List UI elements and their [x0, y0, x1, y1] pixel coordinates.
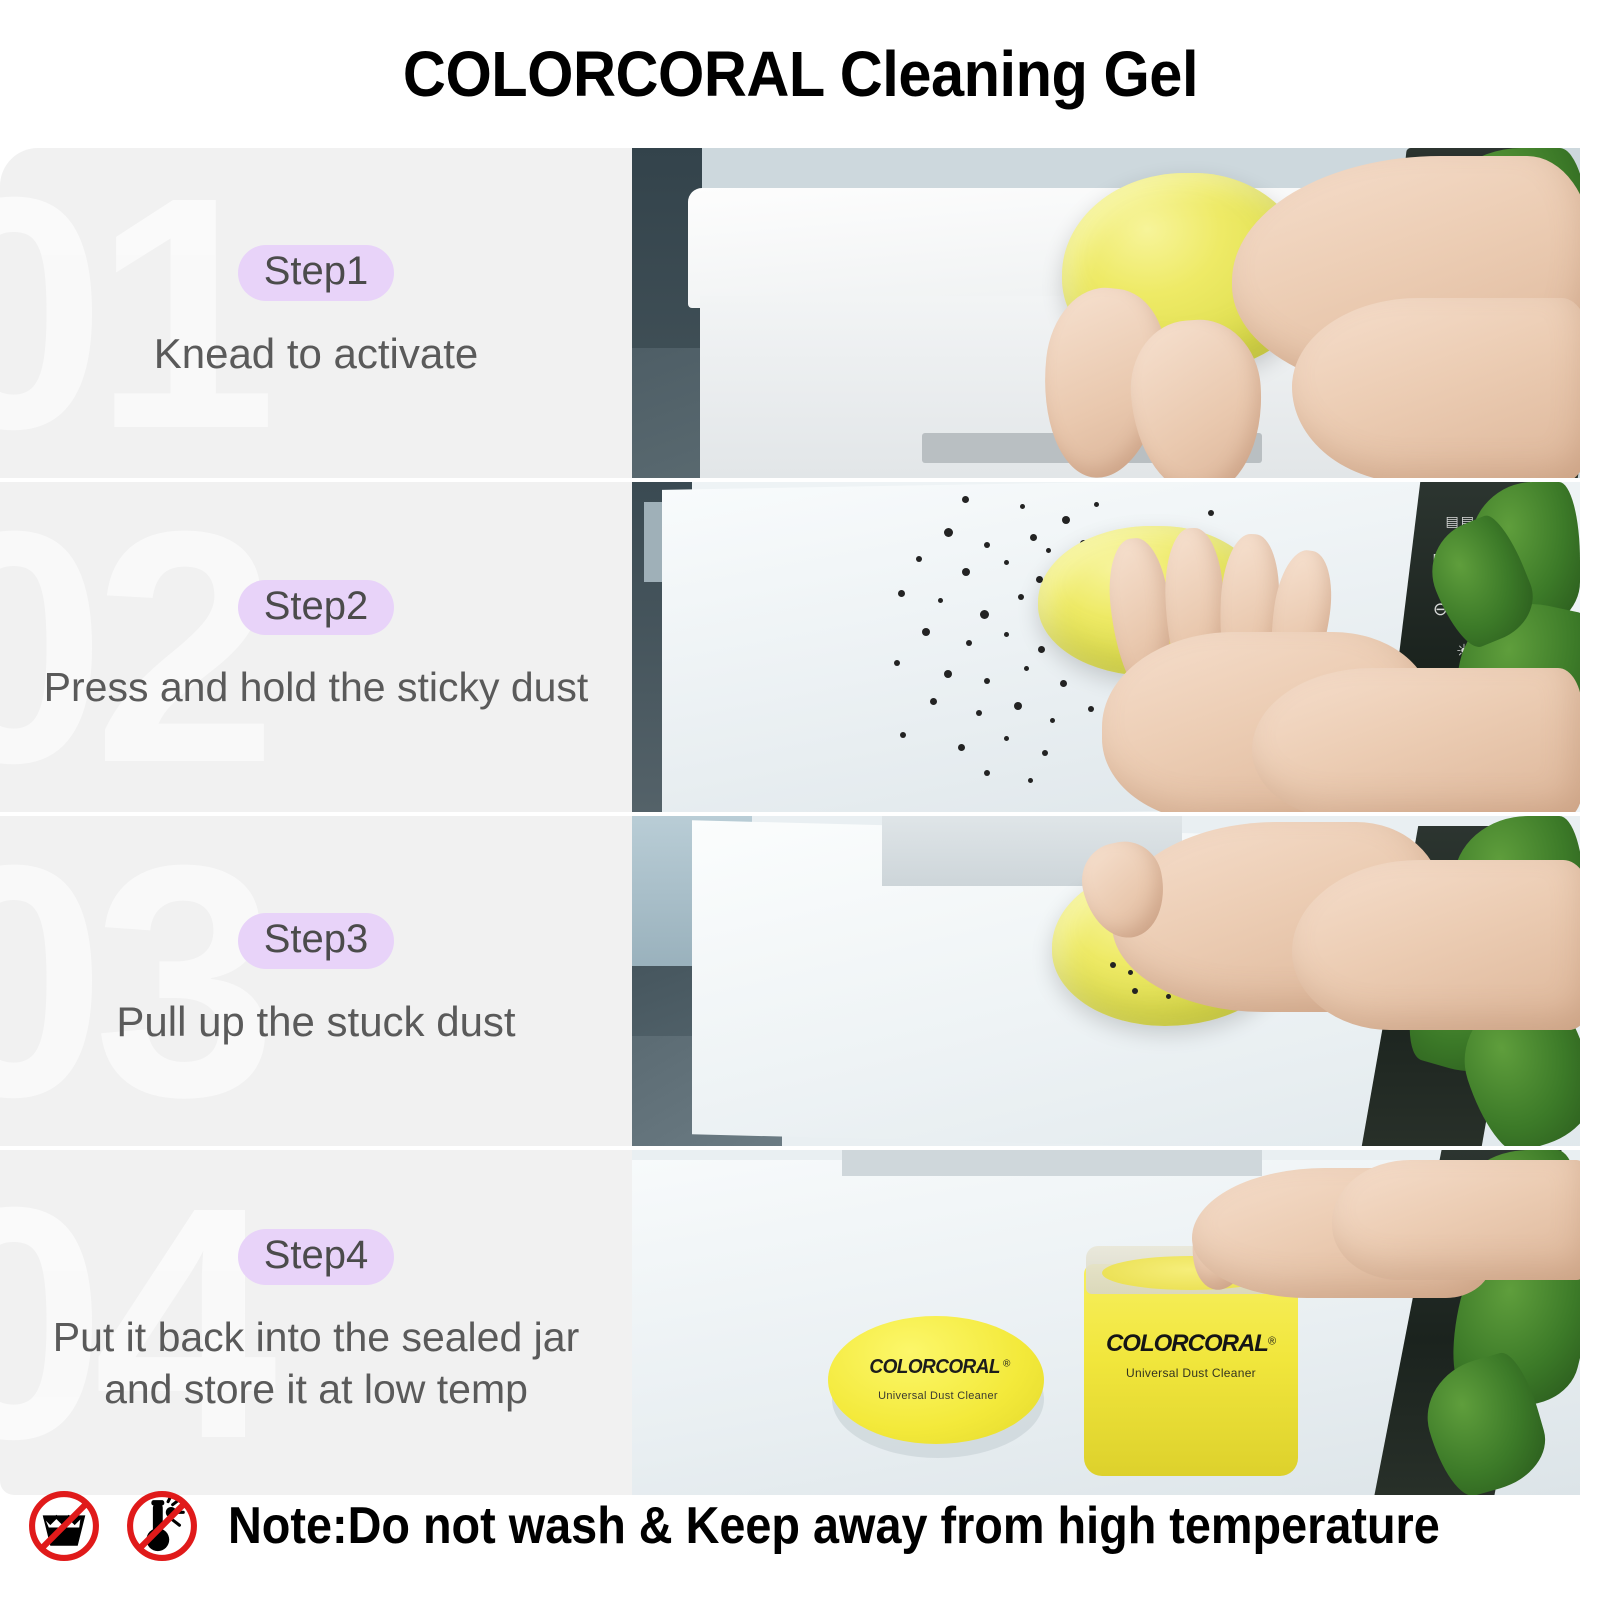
infographic-page: COLORCORAL Cleaning Gel 01 Step1 Knead t… [0, 0, 1600, 1600]
step-badge: Step4 [238, 1229, 395, 1284]
note-text: Note:Do not wash & Keep away from high t… [228, 1496, 1440, 1556]
step-row: 04 Step4 Put it back into the sealed jar… [0, 1150, 1600, 1495]
step-photo: ▤▤ □□ ⊖ ⊕ ☀ ▶ ☁ [632, 482, 1580, 812]
step-text-panel: 02 Step2 Press and hold the sticky dust [0, 482, 632, 812]
step-row: 02 Step2 Press and hold the sticky dust … [0, 482, 1600, 812]
step-badge: Step3 [238, 913, 395, 968]
step-text-panel: 04 Step4 Put it back into the sealed jar… [0, 1150, 632, 1495]
product-brand-jar: COLORCORAL [1106, 1330, 1268, 1358]
registered-mark-icon: ® [1268, 1336, 1276, 1348]
page-title: COLORCORAL Cleaning Gel [402, 37, 1197, 111]
step-text-panel: 01 Step1 Knead to activate [0, 148, 632, 478]
product-lid: COLORCORAL® Universal Dust Cleaner [828, 1310, 1048, 1460]
step-description: Pull up the stuck dust [116, 995, 515, 1049]
step-photo: ☁ ☁ [632, 816, 1580, 1146]
note-bar: Note:Do not wash & Keep away from high t… [0, 1478, 1600, 1574]
step-description: Put it back into the sealed jar [53, 1311, 579, 1363]
step-row: 01 Step1 Knead to activate [0, 148, 1600, 478]
product-brand-lid: COLORCORAL [869, 1356, 999, 1379]
product-subtitle-jar: Universal Dust Cleaner [1126, 1366, 1256, 1380]
title-bar: COLORCORAL Cleaning Gel [0, 0, 1600, 148]
step-text-panel: 03 Step3 Pull up the stuck dust [0, 816, 632, 1146]
steps-list: 01 Step1 Knead to activate [0, 148, 1600, 1495]
registered-mark-icon: ® [1003, 1359, 1010, 1370]
step-photo: ☁ ▶ ☁ COLORCORAL® Un [632, 1150, 1580, 1495]
step-photo [632, 148, 1580, 478]
product-subtitle-lid: Universal Dust Cleaner [878, 1390, 998, 1402]
step-description: Knead to activate [154, 327, 479, 381]
step-description: Press and hold the sticky dust [44, 661, 589, 713]
step-description-line2: and store it at low temp [104, 1363, 528, 1415]
step-badge: Step2 [238, 580, 395, 635]
no-wash-icon [26, 1488, 102, 1564]
step-row: 03 Step3 Pull up the stuck dust [0, 816, 1600, 1146]
step-badge: Step1 [238, 245, 395, 300]
no-high-temperature-icon [124, 1488, 200, 1564]
